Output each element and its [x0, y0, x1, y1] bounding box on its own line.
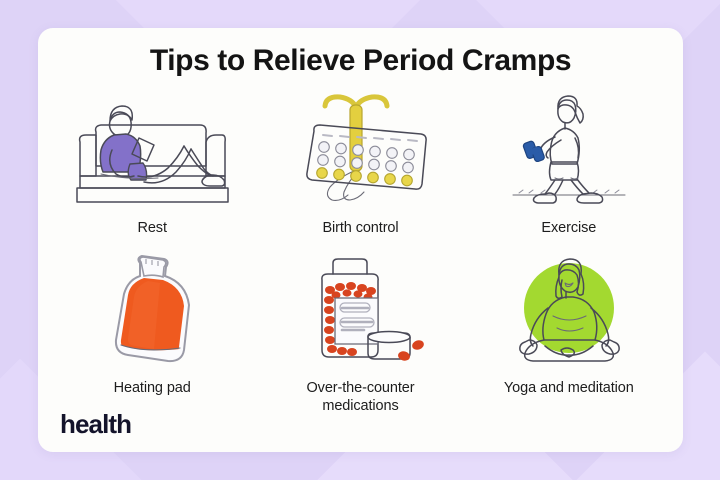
tip-label: Exercise	[541, 219, 596, 237]
person-meditating-icon	[485, 250, 653, 372]
tip-item-exercise: Exercise	[465, 90, 673, 250]
exercise-illustration	[465, 90, 673, 212]
dumbbell-icon	[522, 140, 545, 162]
tip-label: Heating pad	[114, 379, 191, 397]
tip-item-birth-control: Birth control	[256, 90, 464, 250]
tip-item-medications: Over-the-counter medications	[256, 250, 464, 410]
tip-label: Over-the-counter medications	[275, 379, 445, 415]
health-logo: health	[60, 409, 131, 440]
tip-item-yoga: Yoga and meditation	[465, 250, 673, 410]
tip-label: Birth control	[322, 219, 398, 237]
tip-item-rest: Rest	[48, 90, 256, 250]
iud-and-pill-pack-icon	[276, 90, 444, 212]
tip-item-heating-pad: Heating pad	[48, 250, 256, 410]
page-title: Tips to Relieve Period Cramps	[38, 44, 683, 78]
infographic-card: Tips to Relieve Period Cramps	[38, 28, 683, 452]
tips-grid: Rest	[48, 90, 673, 410]
yoga-illustration	[465, 250, 673, 372]
person-resting-on-couch-icon	[68, 90, 236, 212]
rest-illustration	[48, 90, 256, 212]
medications-illustration	[256, 250, 464, 372]
pill-bottle-icon	[276, 250, 444, 372]
person-walking-with-dumbbell-icon	[485, 90, 653, 212]
hot-water-bottle-icon	[68, 250, 236, 372]
heating-pad-illustration	[48, 250, 256, 372]
tip-label: Yoga and meditation	[504, 379, 634, 397]
birth-control-illustration	[256, 90, 464, 212]
tip-label: Rest	[137, 219, 166, 237]
